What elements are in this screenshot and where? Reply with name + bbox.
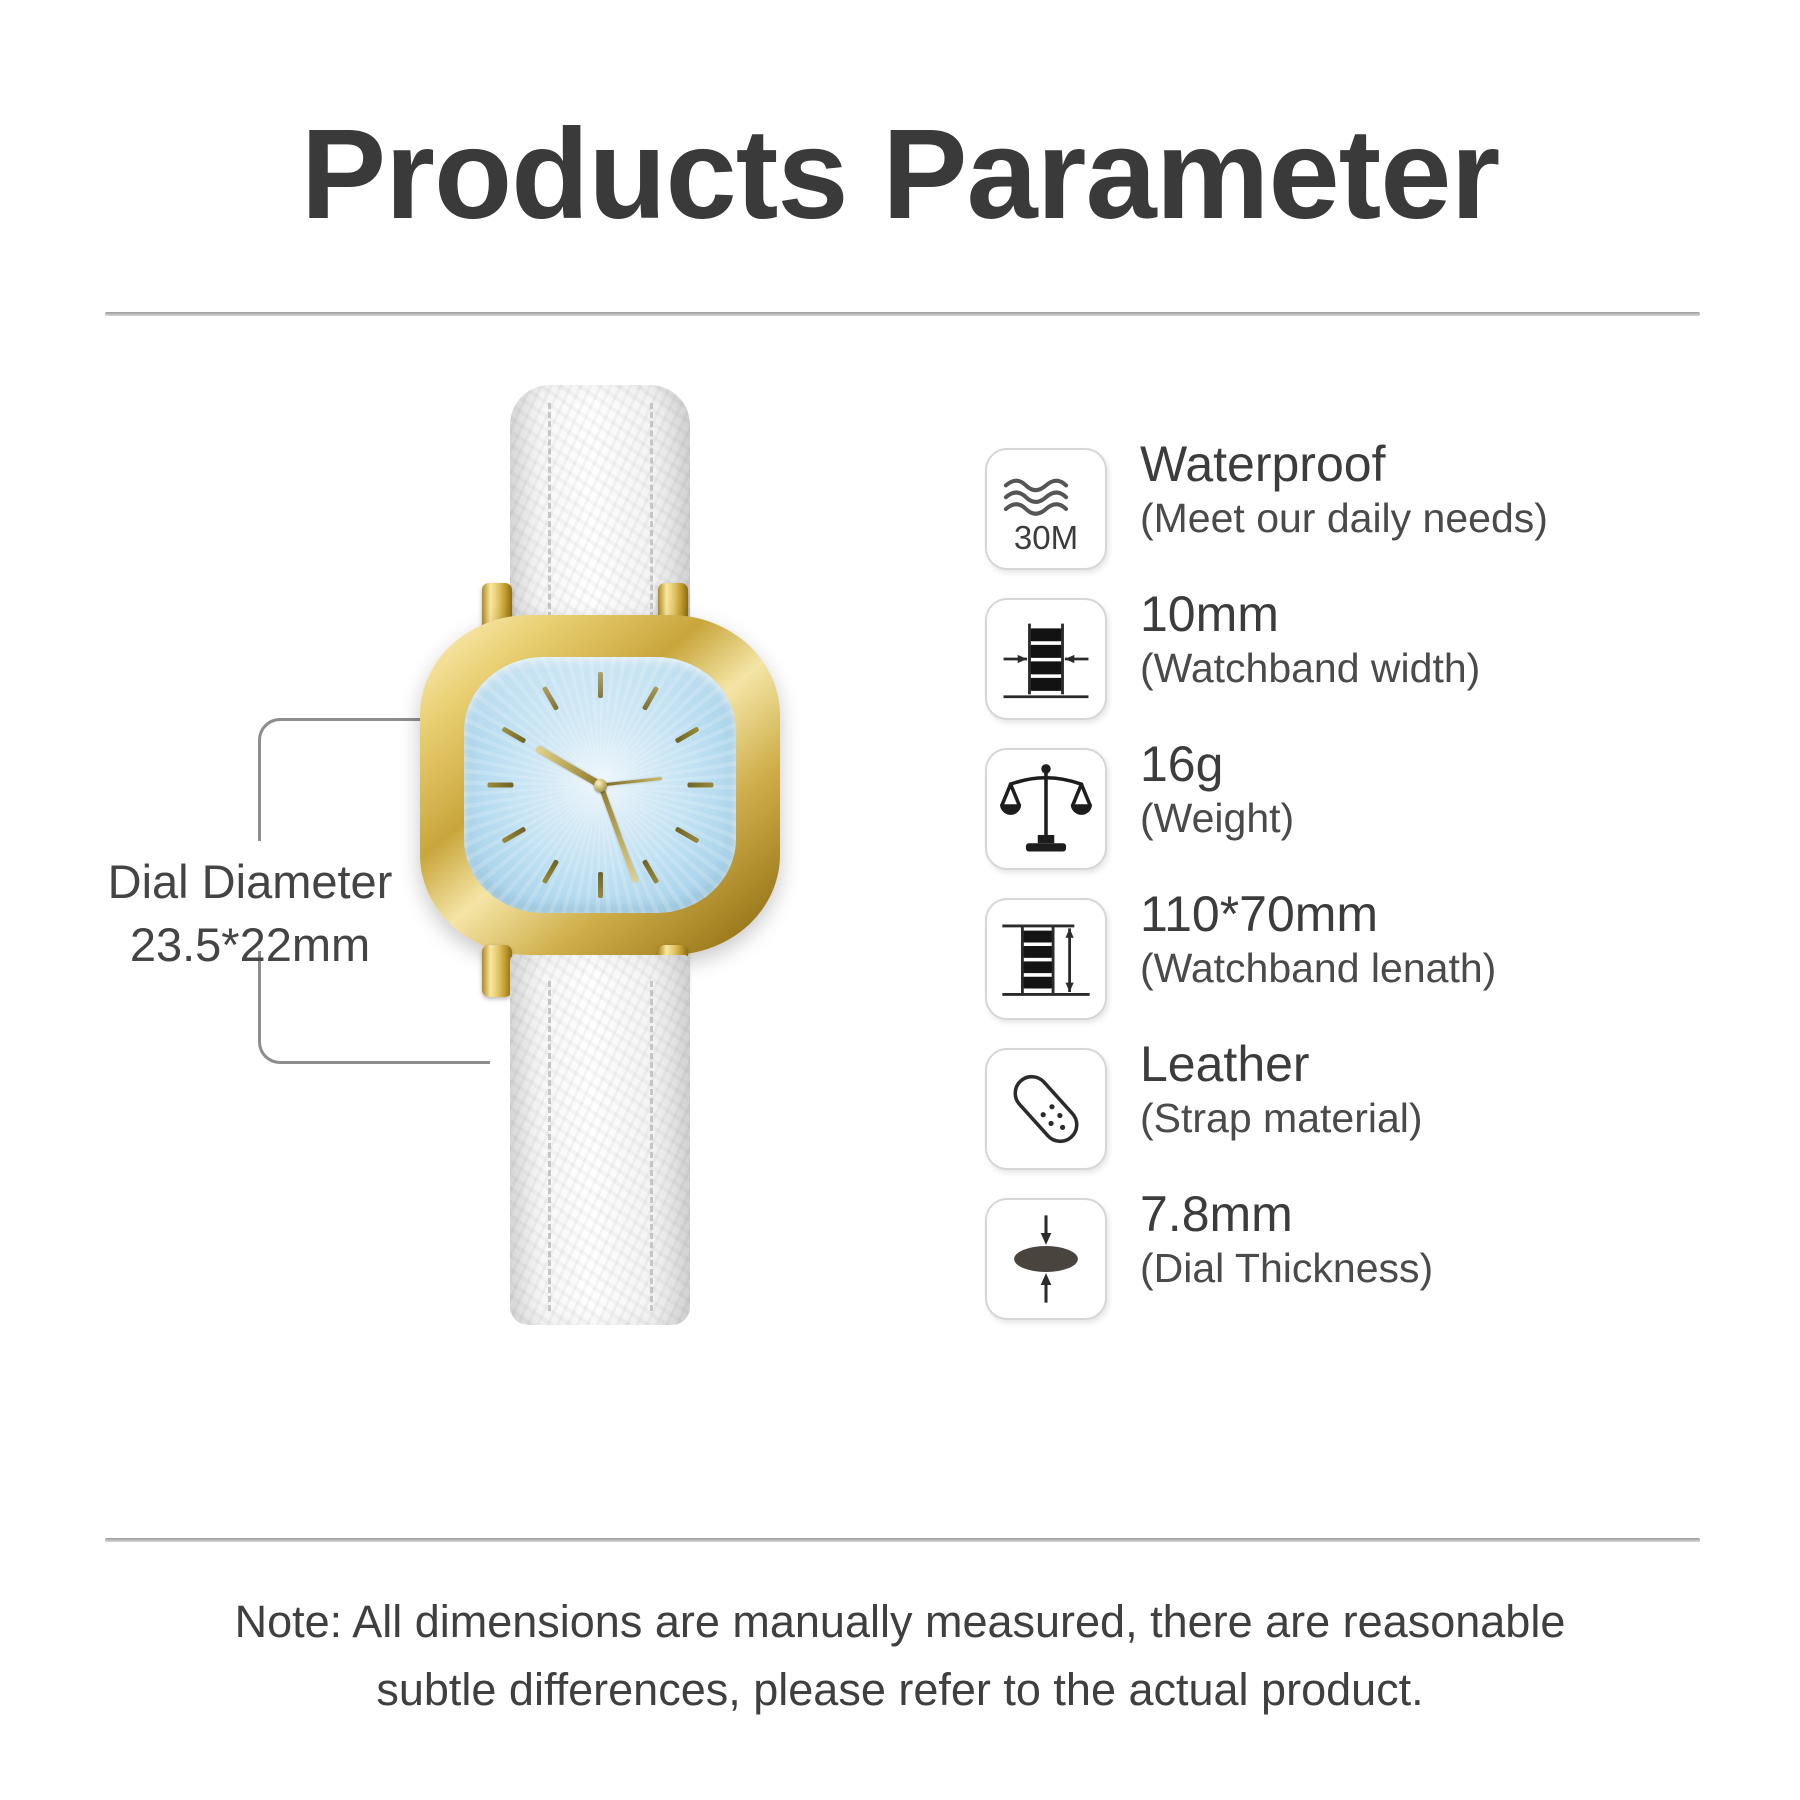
- divider-bottom: [105, 1538, 1700, 1542]
- spec-row-watchband-length: 110*70mm (Watchband lenath): [985, 890, 1775, 1040]
- waterproof-depth-text: 30M: [1014, 519, 1078, 556]
- hour-marker: [501, 726, 526, 743]
- spec-text-block: 110*70mm (Watchband lenath): [1140, 886, 1770, 992]
- hour-marker: [674, 826, 699, 843]
- hour-marker: [541, 686, 558, 711]
- lug-bracket: [482, 945, 512, 997]
- hour-marker: [501, 826, 526, 843]
- spec-title: 16g: [1140, 736, 1770, 792]
- spec-text-block: 10mm (Watchband width): [1140, 586, 1770, 692]
- minute-hand: [598, 784, 638, 883]
- spec-text-block: 7.8mm (Dial Thickness): [1140, 1186, 1770, 1292]
- page-title: Products Parameter: [0, 105, 1800, 246]
- spec-row-weight: 16g (Weight): [985, 740, 1775, 890]
- watchband-length-icon: [985, 898, 1107, 1020]
- footer-note: Note: All dimensions are manually measur…: [150, 1588, 1650, 1723]
- spec-subtitle: (Strap material): [1140, 1094, 1770, 1142]
- spec-title: Leather: [1140, 1036, 1770, 1092]
- spec-text-block: Leather (Strap material): [1140, 1036, 1770, 1142]
- spec-row-watchband-width: 10mm (Watchband width): [985, 590, 1775, 740]
- spec-title: 10mm: [1140, 586, 1770, 642]
- spec-text-block: Waterproof (Meet our daily needs): [1140, 436, 1770, 542]
- spec-subtitle: (Dial Thickness): [1140, 1244, 1770, 1292]
- footer-note-line2: subtle differences, please refer to the …: [150, 1656, 1650, 1724]
- hour-marker: [641, 686, 658, 711]
- hands-pivot: [594, 779, 607, 792]
- watchband-lower: [510, 955, 690, 1325]
- stitch-line: [650, 981, 653, 1311]
- stitch-line: [650, 403, 653, 627]
- waterproof-icon: 30M: [985, 448, 1107, 570]
- watch-dial: [464, 657, 736, 913]
- second-hand: [600, 777, 662, 786]
- hour-marker: [674, 726, 699, 743]
- spec-subtitle: (Meet our daily needs): [1140, 494, 1770, 542]
- spec-title: Waterproof: [1140, 436, 1770, 492]
- spec-list: 30M Waterproof (Meet our daily needs): [985, 440, 1775, 1340]
- spec-title: 110*70mm: [1140, 886, 1770, 942]
- hour-hand: [534, 745, 602, 788]
- spec-subtitle: (Watchband width): [1140, 644, 1770, 692]
- spec-title: 7.8mm: [1140, 1186, 1770, 1242]
- leather-strap-icon: [985, 1048, 1107, 1170]
- spec-subtitle: (Weight): [1140, 794, 1770, 842]
- divider-top: [105, 312, 1700, 316]
- weight-scale-icon: [985, 748, 1107, 870]
- stitch-line: [548, 403, 551, 627]
- hour-marker: [687, 783, 713, 788]
- spec-text-block: 16g (Weight): [1140, 736, 1770, 842]
- dial-diameter-label: Dial Diameter 23.5*22mm: [60, 850, 440, 977]
- dial-diameter-label-line2: 23.5*22mm: [60, 913, 440, 976]
- dial-diameter-label-line1: Dial Diameter: [108, 855, 393, 908]
- stitch-line: [548, 981, 551, 1311]
- hour-marker: [487, 783, 513, 788]
- spec-subtitle: (Watchband lenath): [1140, 944, 1770, 992]
- hour-marker: [598, 672, 603, 698]
- spec-row-waterproof: 30M Waterproof (Meet our daily needs): [985, 440, 1775, 590]
- hour-marker: [598, 872, 603, 898]
- spec-row-leather: Leather (Strap material): [985, 1040, 1775, 1190]
- hour-marker: [641, 859, 658, 884]
- dial-thickness-icon: [985, 1198, 1107, 1320]
- product-parameter-page: Products Parameter Dial Diameter 23.5*22…: [0, 0, 1800, 1800]
- spec-row-dial-thickness: 7.8mm (Dial Thickness): [985, 1190, 1775, 1340]
- watch-case: [420, 615, 780, 955]
- footer-note-line1: Note: All dimensions are manually measur…: [235, 1596, 1566, 1647]
- hour-marker: [541, 859, 558, 884]
- watchband-width-icon: [985, 598, 1107, 720]
- watch-product-image: [420, 385, 840, 1325]
